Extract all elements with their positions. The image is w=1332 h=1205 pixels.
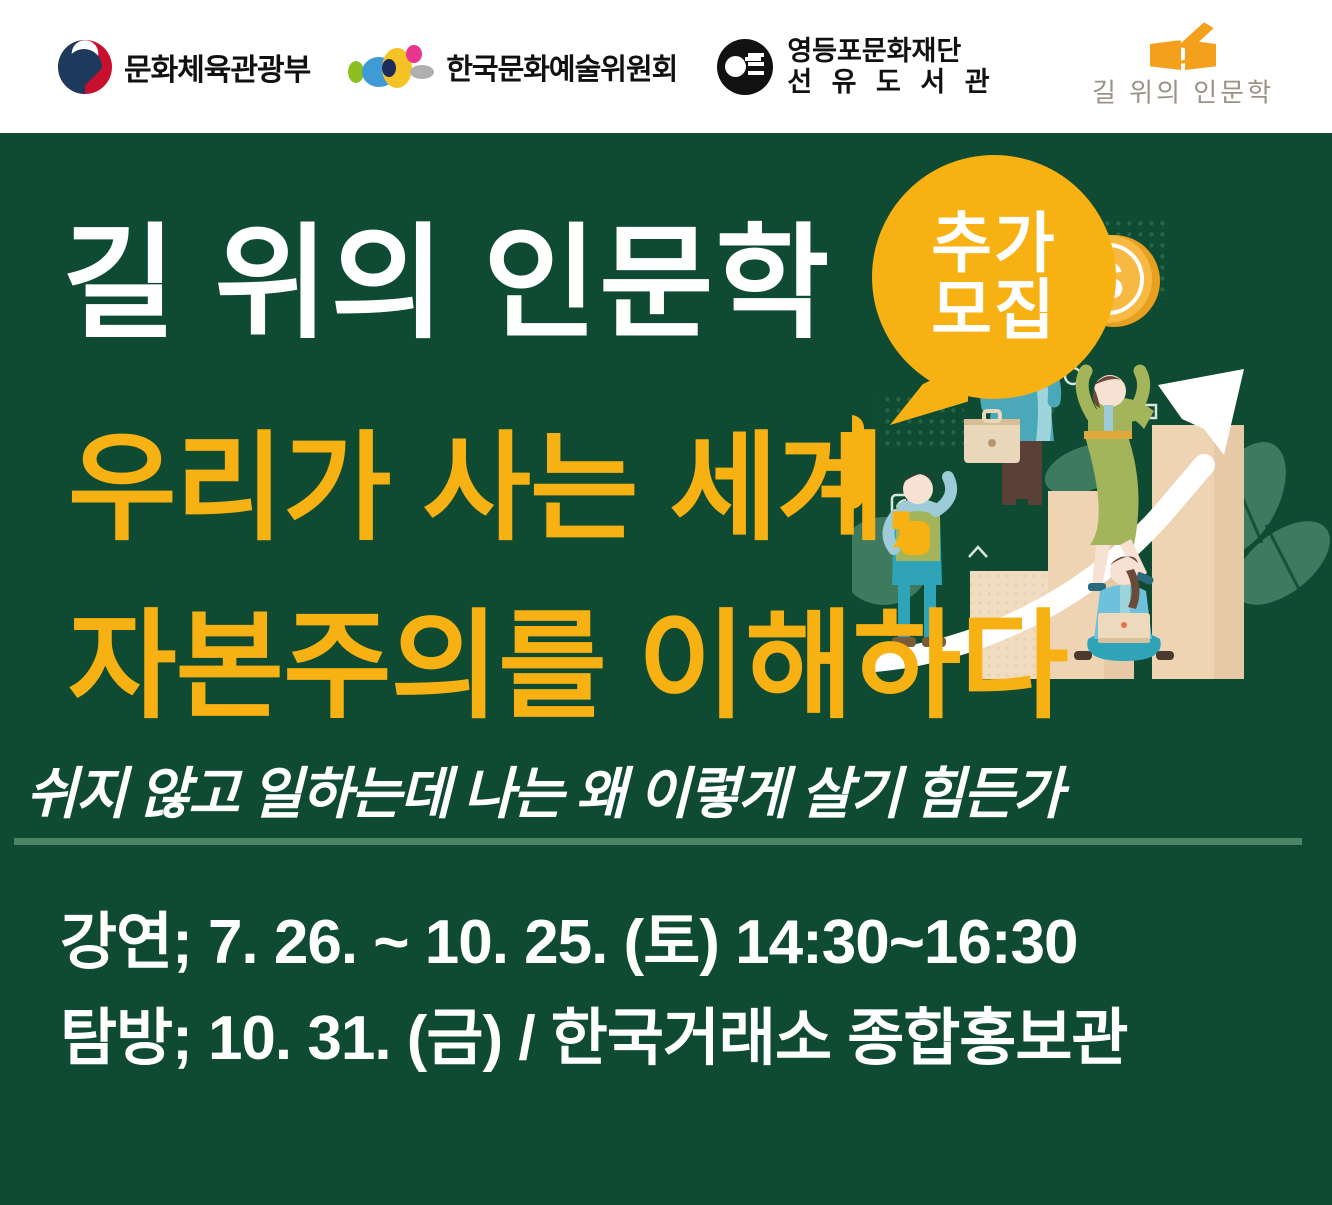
sponsor-logo-bar: 문화체육관광부 한국문화예술위원회 영등포문화재단 선 유 도 서 관 길 위의… (0, 0, 1332, 133)
badge-line-2: 모집 (931, 277, 1056, 344)
headline-subtitle: 쉬지 않고 일하는데 나는 왜 이렇게 살기 힘든가 (26, 766, 1062, 822)
field-trip-schedule: 탐방; 10. 31. (금) / 한국거래소 종합홍보관 (60, 1008, 1127, 1070)
sponsor-label-arts-council: 한국문화예술위원회 (446, 46, 677, 88)
sponsor-label-ministry: 문화체육관광부 (124, 45, 310, 89)
program-title: 길 위의 인문학 (62, 222, 831, 346)
sponsor-logo-ministry-of-culture-sports-tourism: 문화체육관광부 (58, 40, 310, 94)
horizontal-divider (14, 838, 1302, 845)
poster-canvas: 문화체육관광부 한국문화예술위원회 영등포문화재단 선 유 도 서 관 길 위의… (0, 0, 1332, 1205)
colored-ellipses-icon (348, 45, 434, 89)
sponsor-label-humanities: 길 위의 인문학 (1092, 72, 1274, 109)
sponsor-label-library: 선 유 도 서 관 (787, 67, 995, 97)
sponsor-logo-arts-council-korea: 한국문화예술위원회 (348, 45, 677, 89)
headline-line-2: 우리가 사는 세계, (68, 430, 916, 548)
headline-line-3: 자본주의를 이해하다 (68, 608, 1068, 726)
taegeuk-swirl-icon (58, 40, 112, 94)
sponsor-logo-yeongdeungpo-culture-foundation: 영등포문화재단 선 유 도 서 관 (717, 36, 995, 96)
sponsor-label-foundation: 영등포문화재단 (787, 36, 995, 66)
sponsor-logo-humanities-on-the-road: 길 위의 인문학 (1092, 24, 1274, 109)
lecture-schedule: 강연; 7. 26. ~ 10. 25. (토) 14:30~16:30 (60, 912, 1077, 974)
additional-recruitment-badge: 추가 모집 (872, 155, 1116, 399)
book-and-pen-icon (1150, 24, 1216, 70)
badge-line-1: 추가 (931, 210, 1056, 277)
yeongdeungpo-circle-icon (717, 39, 773, 95)
